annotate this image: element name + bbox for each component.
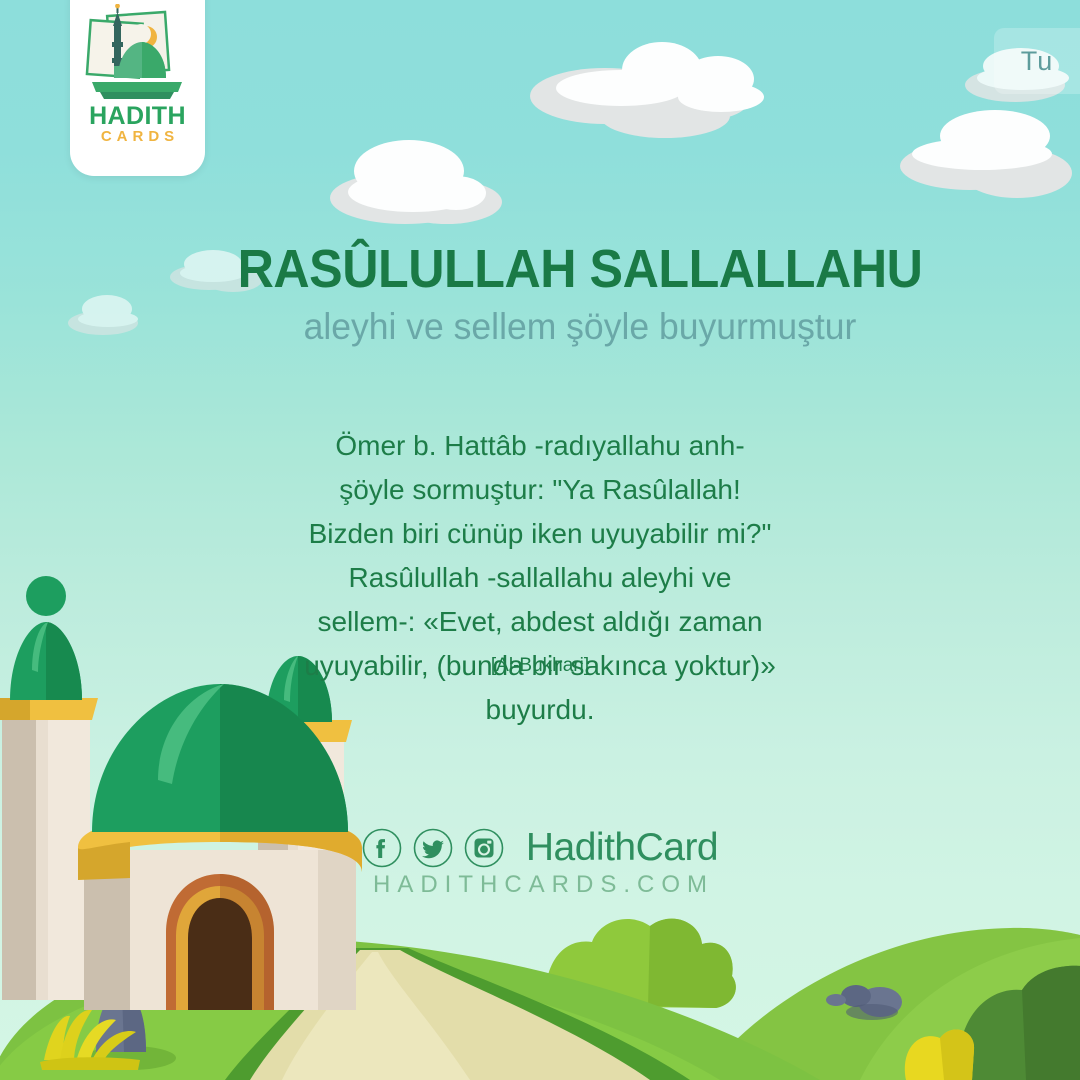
footer: HadithCard HADITHCARDS.COM [0,826,1080,899]
logo-mosque-icon [70,4,205,109]
hadith-text: Ömer b. Hattâb -radıyallahu anh- şöyle s… [300,424,780,732]
crescent-right [280,616,298,652]
crescent-left [26,573,73,616]
hadith-source: [Al-Bukhari] [300,655,780,677]
brand-name: HadithCard [526,826,718,870]
logo-panel[interactable]: HADITH CARDS [70,0,205,176]
logo-title-cards: CARDS [70,128,205,145]
page-subtitle: aleyhi ve sellem şöyle buyurmuştur [158,306,1003,348]
page-title: RASÛLULLAH SALLALLAHU [171,238,989,300]
social-links: HadithCard [0,826,1080,870]
minaret-left [0,573,98,1000]
hadith-card: HADITH CARDS Tu [0,0,1080,1080]
facebook-icon[interactable] [362,828,402,868]
language-badge[interactable]: Tu [994,28,1080,94]
logo-title-hadith: HADITH [70,102,205,131]
website-url: HADITHCARDS.COM [0,871,1080,899]
instagram-icon[interactable] [464,828,504,868]
twitter-icon[interactable] [413,828,453,868]
